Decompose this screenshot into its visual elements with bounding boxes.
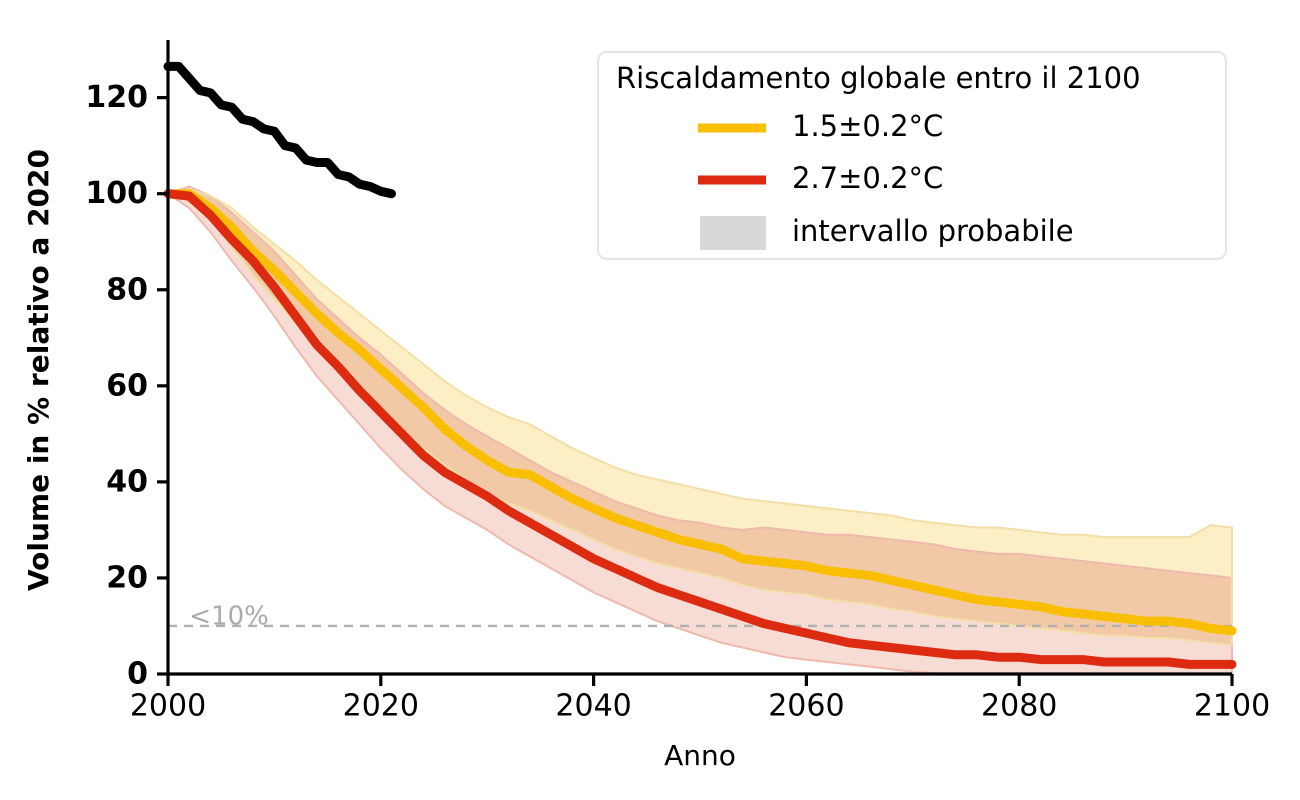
line-historical	[168, 66, 391, 193]
x-tick-marks	[168, 674, 1232, 686]
legend-label-2p7C[interactable]: 2.7±0.2°C	[792, 161, 943, 195]
threshold-10pct-label: <10%	[189, 601, 269, 631]
figure-root: <10% 020406080100120 2000202020402060208…	[0, 0, 1300, 800]
x-tick-labels: 200020202040206020802100	[130, 689, 1270, 724]
x-tick-label: 2100	[1194, 689, 1270, 724]
x-axis-title: Anno	[664, 739, 736, 772]
x-tick-label: 2000	[130, 689, 206, 724]
y-tick-label: 40	[106, 464, 148, 499]
y-tick-marks	[157, 98, 168, 674]
y-tick-labels: 020406080100120	[85, 80, 148, 691]
x-tick-label: 2040	[555, 689, 631, 724]
x-tick-label: 2060	[768, 689, 844, 724]
x-tick-label: 2080	[981, 689, 1057, 724]
y-tick-label: 100	[85, 176, 148, 211]
y-axis-title: Volume in % relativo a 2020	[22, 149, 55, 591]
x-tick-label: 2020	[343, 689, 419, 724]
legend-label-1p5C[interactable]: 1.5±0.2°C	[792, 109, 943, 143]
legend-title: Riscaldamento globale entro il 2100	[616, 61, 1141, 95]
y-tick-label: 20	[106, 560, 148, 595]
y-tick-label: 0	[127, 657, 148, 692]
y-tick-label: 80	[106, 272, 148, 307]
legend-swatch-interval	[700, 216, 766, 250]
glacier-volume-projection-chart: <10% 020406080100120 2000202020402060208…	[0, 0, 1300, 800]
y-tick-label: 120	[85, 80, 148, 115]
legend-label-interval[interactable]: intervallo probabile	[792, 214, 1074, 248]
chart-legend[interactable]: Riscaldamento globale entro il 2100 1.5±…	[598, 52, 1226, 259]
y-tick-label: 60	[106, 368, 148, 403]
